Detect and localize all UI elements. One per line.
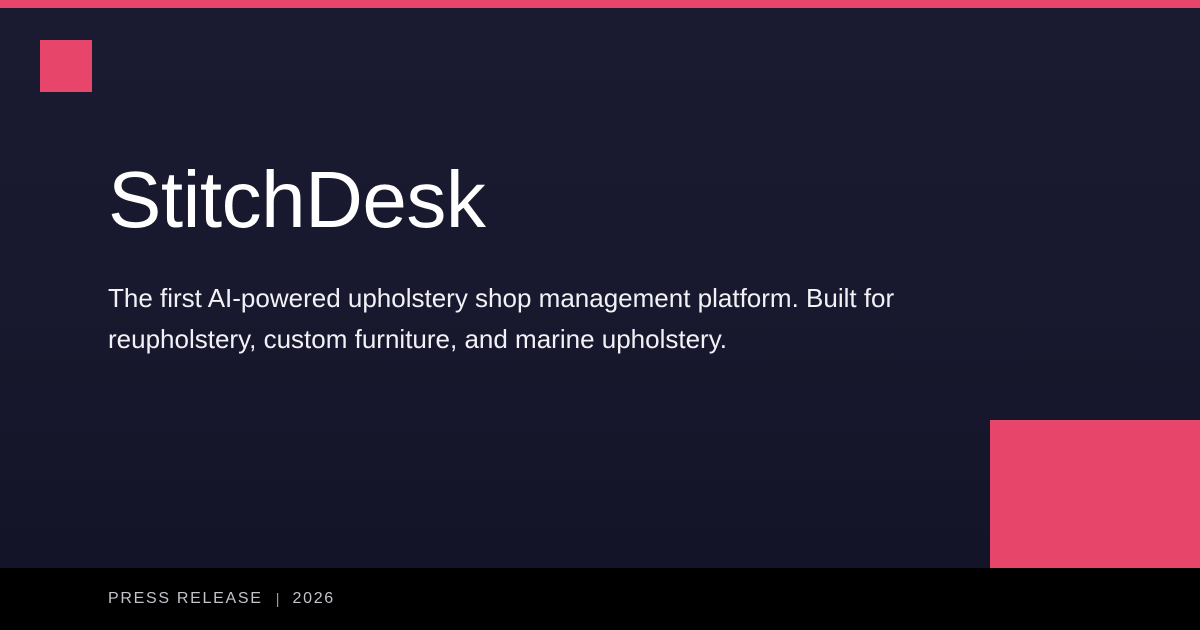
footer-year: 2026: [293, 590, 335, 608]
page-title: StitchDesk: [108, 160, 1008, 240]
footer-label: PRESS RELEASE: [108, 590, 263, 608]
hero-content: StitchDesk The first AI-powered upholste…: [108, 160, 1008, 360]
top-accent-bar: [0, 0, 1200, 8]
footer-meta: PRESS RELEASE | 2026: [108, 568, 335, 630]
bottom-right-accent-block: [990, 420, 1200, 568]
footer-bar: PRESS RELEASE | 2026: [0, 568, 1200, 630]
press-release-hero-card: StitchDesk The first AI-powered upholste…: [0, 0, 1200, 630]
hero-subheadline: The first AI-powered upholstery shop man…: [108, 278, 988, 360]
footer-separator: |: [276, 592, 280, 607]
square-logo-mark: [40, 40, 92, 92]
